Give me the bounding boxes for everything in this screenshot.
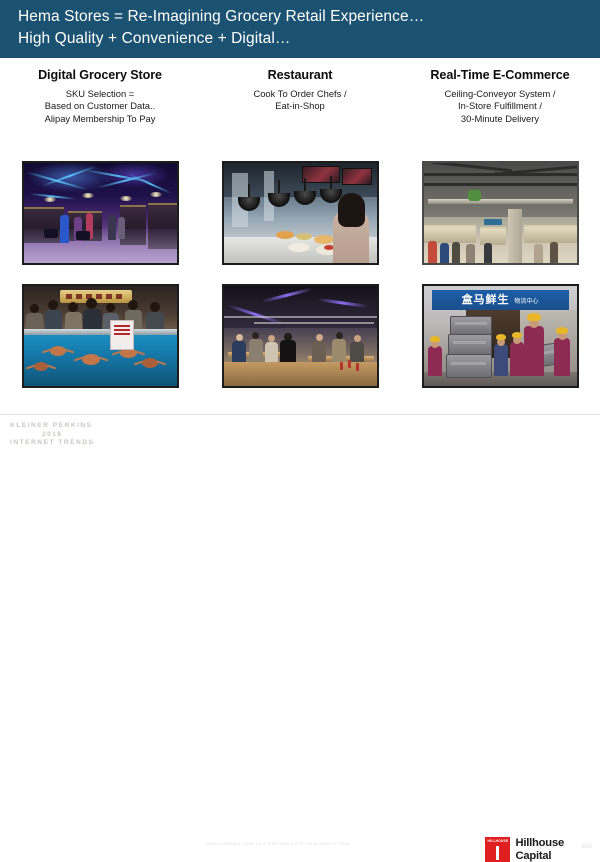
conveyor-tote-bag xyxy=(468,190,481,201)
photo-stack xyxy=(22,161,179,392)
column-restaurant: Restaurant Cook To Order Chefs / Eat-in-… xyxy=(200,62,400,392)
photo-digital-grocery-store-interior xyxy=(22,161,179,265)
hema-logistics-sign: 盒马鲜生 物流中心 xyxy=(432,290,569,310)
kp-line1: KLEINER PERKINS xyxy=(10,422,93,429)
slide-header-band: Hema Stores = Re-Imagining Grocery Retai… xyxy=(0,0,600,58)
hema-sign-sub: 物流中心 xyxy=(514,298,538,305)
source-note: Source: Hillhouse. Note: As of 4/18, the… xyxy=(205,841,405,847)
column-heading: Digital Grocery Store xyxy=(38,68,162,82)
photo-seafood-live-tank xyxy=(22,284,179,388)
hema-sign-main: 盒马鲜生 xyxy=(462,293,510,306)
page-title: Hema Stores = Re-Imagining Grocery Retai… xyxy=(18,6,588,50)
price-card xyxy=(110,320,134,350)
photo-restaurant-food-counter xyxy=(222,161,379,265)
hillhouse-line1: Hillhouse xyxy=(515,837,564,850)
photo-hema-logistics-center: 盒马鲜生 物流中心 xyxy=(422,284,579,388)
hillhouse-wordmark: Hillhouse Capital xyxy=(515,837,564,862)
column-heading: Real-Time E-Commerce xyxy=(430,68,569,82)
page-number: 255 xyxy=(581,843,592,850)
slide-footer: KLEINER PERKINS 2018 INTERNET TRENDS Sou… xyxy=(0,414,600,451)
hillhouse-mark-label: HILLHOUSE xyxy=(485,839,510,843)
column-subtext: SKU Selection = Based on Customer Data..… xyxy=(45,88,156,125)
column-subtext: Ceiling-Conveyor System / In-Store Fulfi… xyxy=(445,88,556,125)
column-heading: Restaurant xyxy=(268,68,333,82)
hillhouse-capital-logo: HILLHOUSE Hillhouse Capital xyxy=(485,837,564,862)
hillhouse-mark-bar xyxy=(496,846,499,860)
column-real-time-ecommerce: Real-Time E-Commerce Ceiling-Conveyor Sy… xyxy=(400,62,600,392)
hillhouse-mark-icon: HILLHOUSE xyxy=(485,837,510,862)
photo-eat-in-dining-hall xyxy=(222,284,379,388)
hema-sign-text: 盒马鲜生 物流中心 xyxy=(432,291,569,310)
column-digital-grocery-store: Digital Grocery Store SKU Selection = Ba… xyxy=(0,62,200,392)
content-columns: Digital Grocery Store SKU Selection = Ba… xyxy=(0,62,600,392)
kleiner-perkins-logo: KLEINER PERKINS 2018 INTERNET TRENDS xyxy=(10,422,94,448)
column-subtext: Cook To Order Chefs / Eat-in-Shop xyxy=(253,88,346,113)
customer-hair xyxy=(338,193,365,227)
photo-ceiling-conveyor-system xyxy=(422,161,579,265)
kp-line2: INTERNET TRENDS xyxy=(10,439,94,446)
kp-year: 2018 xyxy=(10,431,94,440)
photo-stack: 盒马鲜生 物流中心 xyxy=(422,161,579,392)
hillhouse-line2: Capital xyxy=(515,850,564,862)
photo-stack xyxy=(222,161,379,392)
overhead-conveyor-rail xyxy=(428,199,573,204)
